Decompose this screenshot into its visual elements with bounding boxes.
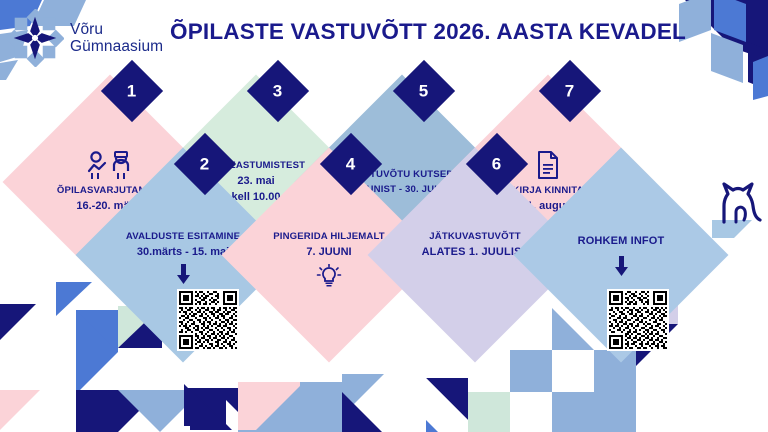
qr-code-applications[interactable] [177, 289, 239, 351]
rosette-logo-icon [6, 9, 64, 67]
poster-canvas: Võru Gümnaasium ÕPILASTE VASTUVÕTT 2026.… [0, 0, 768, 432]
step-2-sub: 30.märts - 15. mai [137, 245, 229, 259]
document-icon [537, 151, 559, 179]
brand-name-line2: Gümnaasium [70, 38, 163, 55]
step-badge-5-number: 5 [419, 83, 428, 100]
down-arrow-icon [614, 256, 629, 276]
step-6-sub: ALATES 1. JUULIST [422, 246, 529, 258]
step-badge-6-number: 6 [492, 156, 501, 173]
step-4-sub: 7. JUUNI [306, 245, 351, 259]
qr-code-applications-image [179, 291, 237, 349]
qr-code-more-info-image [609, 291, 667, 349]
brand-name-line1: Võru [70, 21, 163, 38]
down-arrow-icon [176, 264, 191, 284]
step-badge-1-number: 1 [127, 83, 136, 100]
two-people-icon [86, 151, 134, 179]
step-badge-3-number: 3 [273, 83, 282, 100]
brand-name: Võru Gümnaasium [70, 21, 163, 55]
qr-code-more-info[interactable] [607, 289, 669, 351]
step-badge-2-number: 2 [200, 156, 209, 173]
more-info-label: ROHKEM INFOT [578, 235, 665, 247]
brand-logo-block: Võru Gümnaasium [6, 6, 196, 70]
page-title: ÕPILASTE VASTUVÕTT 2026. AASTA KEVADEL [170, 19, 620, 45]
step-badge-4-number: 4 [346, 156, 355, 173]
step-badge-7-number: 7 [565, 83, 574, 100]
admission-timeline: ÕPILASVARJUTAMINE 16.-20. märts SISSEAST… [0, 84, 768, 296]
step-4-label: PINGERIDA HILJEMALT [273, 231, 385, 243]
lightbulb-icon [316, 264, 342, 288]
step-6-label: JÄTKUVASTUVÕTT [429, 231, 520, 243]
step-2-label: AVALDUSTE ESITAMINE [126, 231, 240, 243]
